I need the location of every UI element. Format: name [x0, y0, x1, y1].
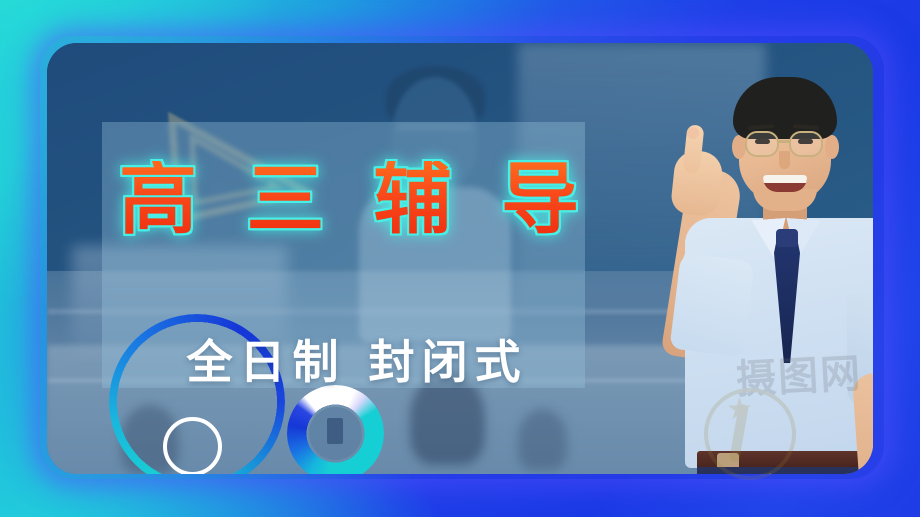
small-white-ring — [163, 417, 222, 474]
title-char-3: 辅 — [374, 161, 452, 239]
donut-inner-mark — [327, 418, 343, 444]
title-char-1: 高 — [119, 161, 197, 239]
page-title: 高 三 辅 导 — [119, 161, 579, 239]
title-char-2: 三 — [246, 161, 324, 239]
poster-root: 高 三 辅 导 全日制 封闭式 — [0, 0, 920, 517]
title-char-4: 导 — [501, 161, 579, 239]
poster-stage: 高 三 辅 导 全日制 封闭式 — [47, 43, 873, 474]
page-subtitle: 全日制 封闭式 — [157, 326, 557, 392]
student-silhouette — [518, 409, 568, 469]
